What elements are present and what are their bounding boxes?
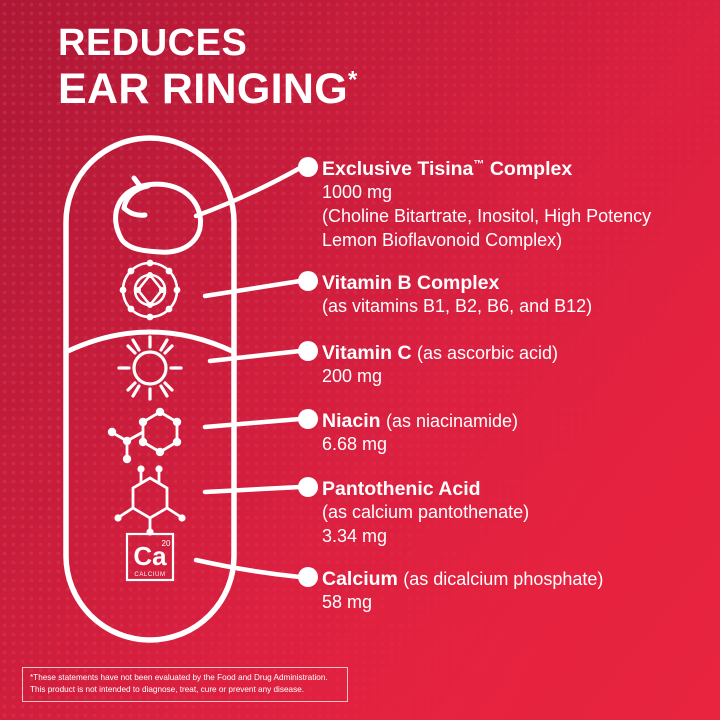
ingredient-name-text: Exclusive Tisina [322,158,473,180]
ingredient-name-niacin: Niacin (as niacinamide) [322,409,518,433]
headline-asterisk: * [348,67,358,94]
leader-line-2 [205,281,300,296]
ingredient-detail-tisina-2: Lemon Bioflavonoid Complex) [322,229,651,253]
ingredient-name-vitamin-b: Vitamin B Complex [322,271,592,295]
ingredient-inline-detail: (as dicalcium phosphate) [403,569,603,589]
page-title: REDUCES EAR RINGING* [58,24,358,111]
ingredient-name-suffix: Complex [484,158,572,180]
leader-line-6 [196,560,300,577]
ingredient-inline-detail: (as niacinamide) [386,411,518,431]
bullet-dot-6 [298,567,318,587]
bullet-dot-4 [298,409,318,429]
trademark-symbol: ™ [473,159,484,171]
calcium-symbol: Ca [133,541,167,571]
ingredient-amount-vitamin-c: 200 mg [322,365,558,389]
ingredient-name-tisina: Exclusive Tisina™ Complex [322,157,651,181]
ingredient-name-text: Calcium [322,568,398,590]
fda-disclaimer: *These statements have not been evaluate… [22,667,348,702]
ingredient-name-text: Vitamin C [322,342,412,364]
leader-line-3 [210,351,300,361]
niacin-molecule-icon [108,408,181,463]
ingredient-name-pantothenic: Pantothenic Acid [322,477,529,501]
leader-line-4 [205,419,300,427]
molecule-cluster-icon [120,260,181,321]
ingredient-detail-tisina-1: (Choline Bitartrate, Inositol, High Pote… [322,205,651,229]
ingredient-detail-pantothenic: (as calcium pantothenate) [322,501,529,525]
ingredient-amount-tisina: 1000 mg [322,181,651,205]
ingredient-item-calcium: Calcium (as dicalcium phosphate) 58 mg [322,567,603,615]
ingredient-amount-niacin: 6.68 mg [322,433,518,457]
bullet-dot-2 [298,271,318,291]
calcium-atomic-number: 20 [162,539,171,548]
capsule-seam [66,332,234,352]
headline-line-2-text: EAR RINGING [58,65,348,113]
ingredient-item-vitamin-c: Vitamin C (as ascorbic acid) 200 mg [322,341,558,389]
disclaimer-line-2: This product is not intended to diagnose… [30,684,340,696]
ingredient-name-text: Niacin [322,410,381,432]
capsule-outline [66,138,234,640]
ingredient-detail-vitamin-b: (as vitamins B1, B2, B6, and B12) [322,295,592,319]
pantothenic-molecule-icon [114,465,185,535]
ingredient-item-vitamin-b: Vitamin B Complex (as vitamins B1, B2, B… [322,271,592,319]
ingredient-item-pantothenic: Pantothenic Acid (as calcium pantothenat… [322,477,529,549]
leader-line-1 [196,168,300,216]
calcium-element-icon: Ca 20 CALCIUM [127,534,173,580]
ingredient-amount-calcium: 58 mg [322,591,603,615]
product-infographic: REDUCES EAR RINGING* [0,0,720,720]
bullet-dot-3 [298,341,318,361]
ingredient-name-vitamin-c: Vitamin C (as ascorbic acid) [322,341,558,365]
lemon-icon [116,178,201,252]
calcium-element-name: CALCIUM [134,572,165,578]
headline-line-1: REDUCES [58,24,358,62]
ingredient-name-calcium: Calcium (as dicalcium phosphate) [322,567,603,591]
leader-lines [196,168,300,577]
bullet-dot-5 [298,477,318,497]
ingredient-amount-pantothenic: 3.34 mg [322,525,529,549]
bullet-dot-1 [298,157,318,177]
leader-line-5 [205,487,300,492]
sun-icon [119,337,181,399]
ingredient-item-niacin: Niacin (as niacinamide) 6.68 mg [322,409,518,457]
ingredient-item-tisina: Exclusive Tisina™ Complex 1000 mg (Choli… [322,157,651,253]
leader-bullets [298,157,318,587]
ingredient-inline-detail: (as ascorbic acid) [417,343,558,363]
disclaimer-line-1: *These statements have not been evaluate… [30,672,340,684]
headline-line-2: EAR RINGING* [58,68,358,111]
